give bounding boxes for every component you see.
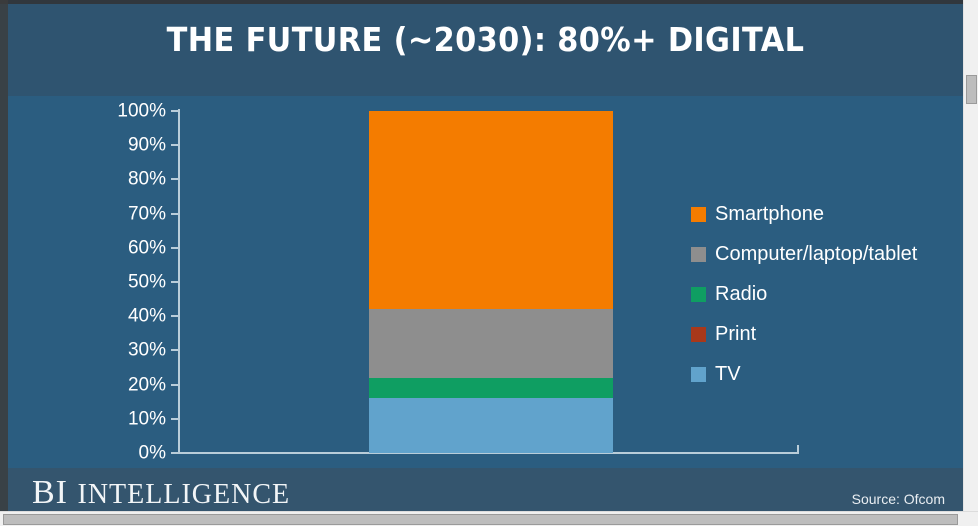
- legend-item-tv[interactable]: TV: [691, 354, 961, 394]
- y-axis-tick-20: 20%: [88, 375, 166, 394]
- legend-swatch-icon: [691, 207, 706, 222]
- y-axis-tickmark-80: [171, 178, 179, 180]
- legend-item-smartphone[interactable]: Smartphone: [691, 194, 961, 234]
- vertical-scrollbar-thumb[interactable]: [966, 75, 977, 104]
- bar-segment-tv[interactable]: [369, 398, 613, 453]
- slide-left-edge: [0, 0, 8, 511]
- presentation-slide: THE FUTURE (~2030): 80%+ DIGITAL 100%90%…: [0, 0, 963, 511]
- legend-swatch-icon: [691, 327, 706, 342]
- footer-band: BI INTELLIGENCE Source: Ofcom: [8, 468, 963, 511]
- legend-item-radio[interactable]: Radio: [691, 274, 961, 314]
- document-viewport: THE FUTURE (~2030): 80%+ DIGITAL 100%90%…: [0, 0, 978, 526]
- y-axis-tickmark-50: [171, 281, 179, 283]
- chart-legend: SmartphoneComputer/laptop/tabletRadioPri…: [691, 194, 961, 394]
- y-axis-tick-labels: 100%90%80%70%60%50%40%30%20%10%0%: [88, 96, 166, 468]
- title-band: THE FUTURE (~2030): 80%+ DIGITAL: [8, 4, 963, 96]
- y-axis-tick-40: 40%: [88, 307, 166, 326]
- legend-swatch-icon: [691, 287, 706, 302]
- y-axis-tick-90: 90%: [88, 136, 166, 155]
- x-axis-end-tick: [797, 445, 799, 454]
- y-axis-tickmark-30: [171, 349, 179, 351]
- horizontal-scrollbar-thumb[interactable]: [3, 514, 958, 525]
- legend-label: TV: [715, 363, 741, 386]
- bi-intelligence-logo: BI INTELLIGENCE: [32, 474, 290, 511]
- page-title: THE FUTURE (~2030): 80%+ DIGITAL: [46, 20, 925, 59]
- y-axis-tick-70: 70%: [88, 204, 166, 223]
- vertical-scrollbar[interactable]: [963, 0, 978, 511]
- y-axis-tickmark-10: [171, 418, 179, 420]
- legend-label: Print: [715, 323, 756, 346]
- bar-segment-smartphone[interactable]: [369, 111, 613, 309]
- y-axis-tick-100: 100%: [88, 102, 166, 121]
- y-axis-tick-10: 10%: [88, 409, 166, 428]
- legend-item-computer-laptop-tablet[interactable]: Computer/laptop/tablet: [691, 234, 961, 274]
- y-axis-tickmark-70: [171, 213, 179, 215]
- y-axis-tickmark-60: [171, 247, 179, 249]
- y-axis-tickmark-90: [171, 144, 179, 146]
- legend-label: Computer/laptop/tablet: [715, 243, 917, 266]
- legend-label: Smartphone: [715, 203, 824, 226]
- legend-item-print[interactable]: Print: [691, 314, 961, 354]
- source-attribution: Source: Ofcom: [852, 491, 945, 507]
- legend-label: Radio: [715, 283, 767, 306]
- y-axis-tickmark-20: [171, 384, 179, 386]
- y-axis-tickmark-0: [171, 452, 179, 454]
- y-axis-tickmark-40: [171, 315, 179, 317]
- y-axis-tickmark-100: [171, 110, 179, 112]
- y-axis-tick-30: 30%: [88, 341, 166, 360]
- legend-swatch-icon: [691, 367, 706, 382]
- y-axis-tick-60: 60%: [88, 238, 166, 257]
- legend-swatch-icon: [691, 247, 706, 262]
- y-axis-tick-80: 80%: [88, 170, 166, 189]
- bar-segment-radio[interactable]: [369, 378, 613, 399]
- y-axis-tick-0: 0%: [88, 444, 166, 463]
- y-axis-tick-50: 50%: [88, 273, 166, 292]
- logo-bi: BI: [32, 474, 78, 511]
- bar-segment-computer-laptop-tablet[interactable]: [369, 309, 613, 377]
- stacked-bar[interactable]: [369, 111, 613, 453]
- chart-area: 100%90%80%70%60%50%40%30%20%10%0% Smartp…: [8, 96, 963, 468]
- horizontal-scrollbar[interactable]: [0, 511, 978, 526]
- logo-intelligence: INTELLIGENCE: [78, 479, 291, 510]
